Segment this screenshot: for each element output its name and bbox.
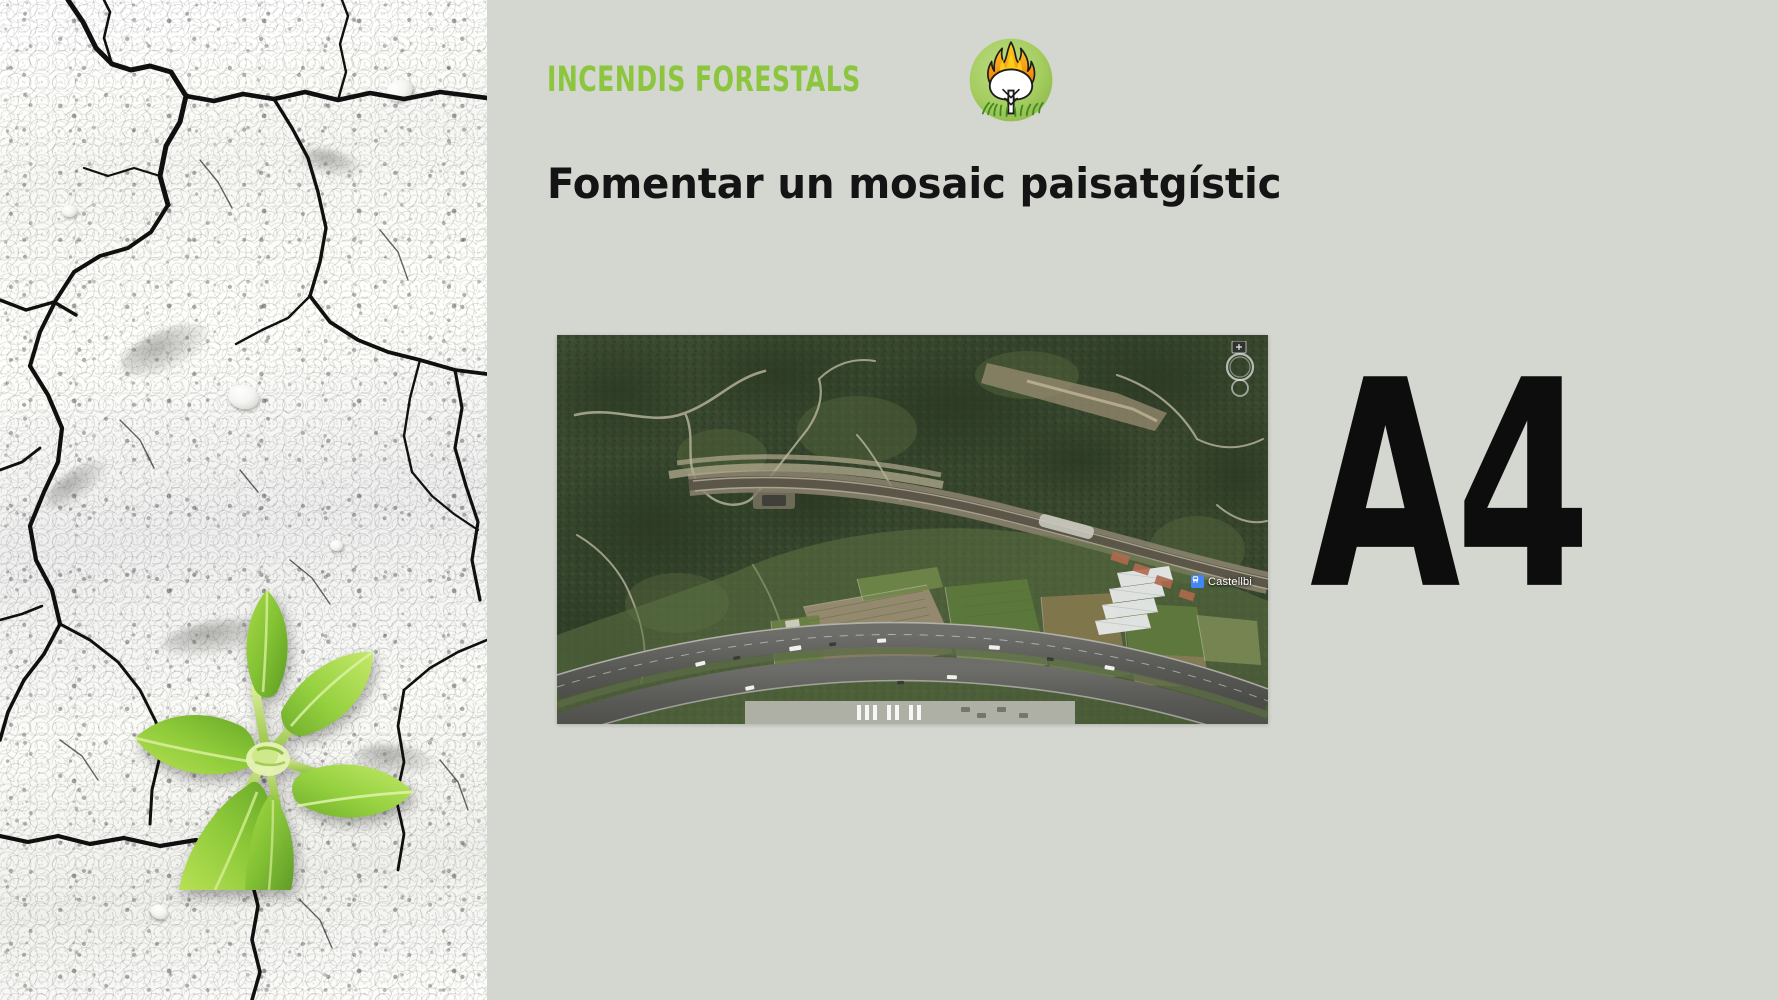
map-place-name: Castellbi [1208, 576, 1252, 588]
brand-header: INCENDIS FORESTALS [547, 36, 1055, 124]
brand-title: INCENDIS FORESTALS [547, 60, 861, 100]
page-title: Fomentar un mosaic paisatgístic [547, 160, 1507, 208]
slide-content-area: INCENDIS FORESTALS [487, 0, 1778, 1000]
map-place-label[interactable]: Castellbi [1191, 575, 1252, 588]
code-badge: A4 [1310, 375, 1586, 598]
left-photo-panel [0, 0, 487, 1000]
presentation-slide: INCENDIS FORESTALS [0, 0, 1778, 1000]
burning-tree-logo-icon [967, 36, 1055, 124]
train-station-icon [1191, 575, 1204, 588]
seedling-plant [105, 560, 435, 890]
satellite-map-image: Castellbi [557, 335, 1268, 724]
